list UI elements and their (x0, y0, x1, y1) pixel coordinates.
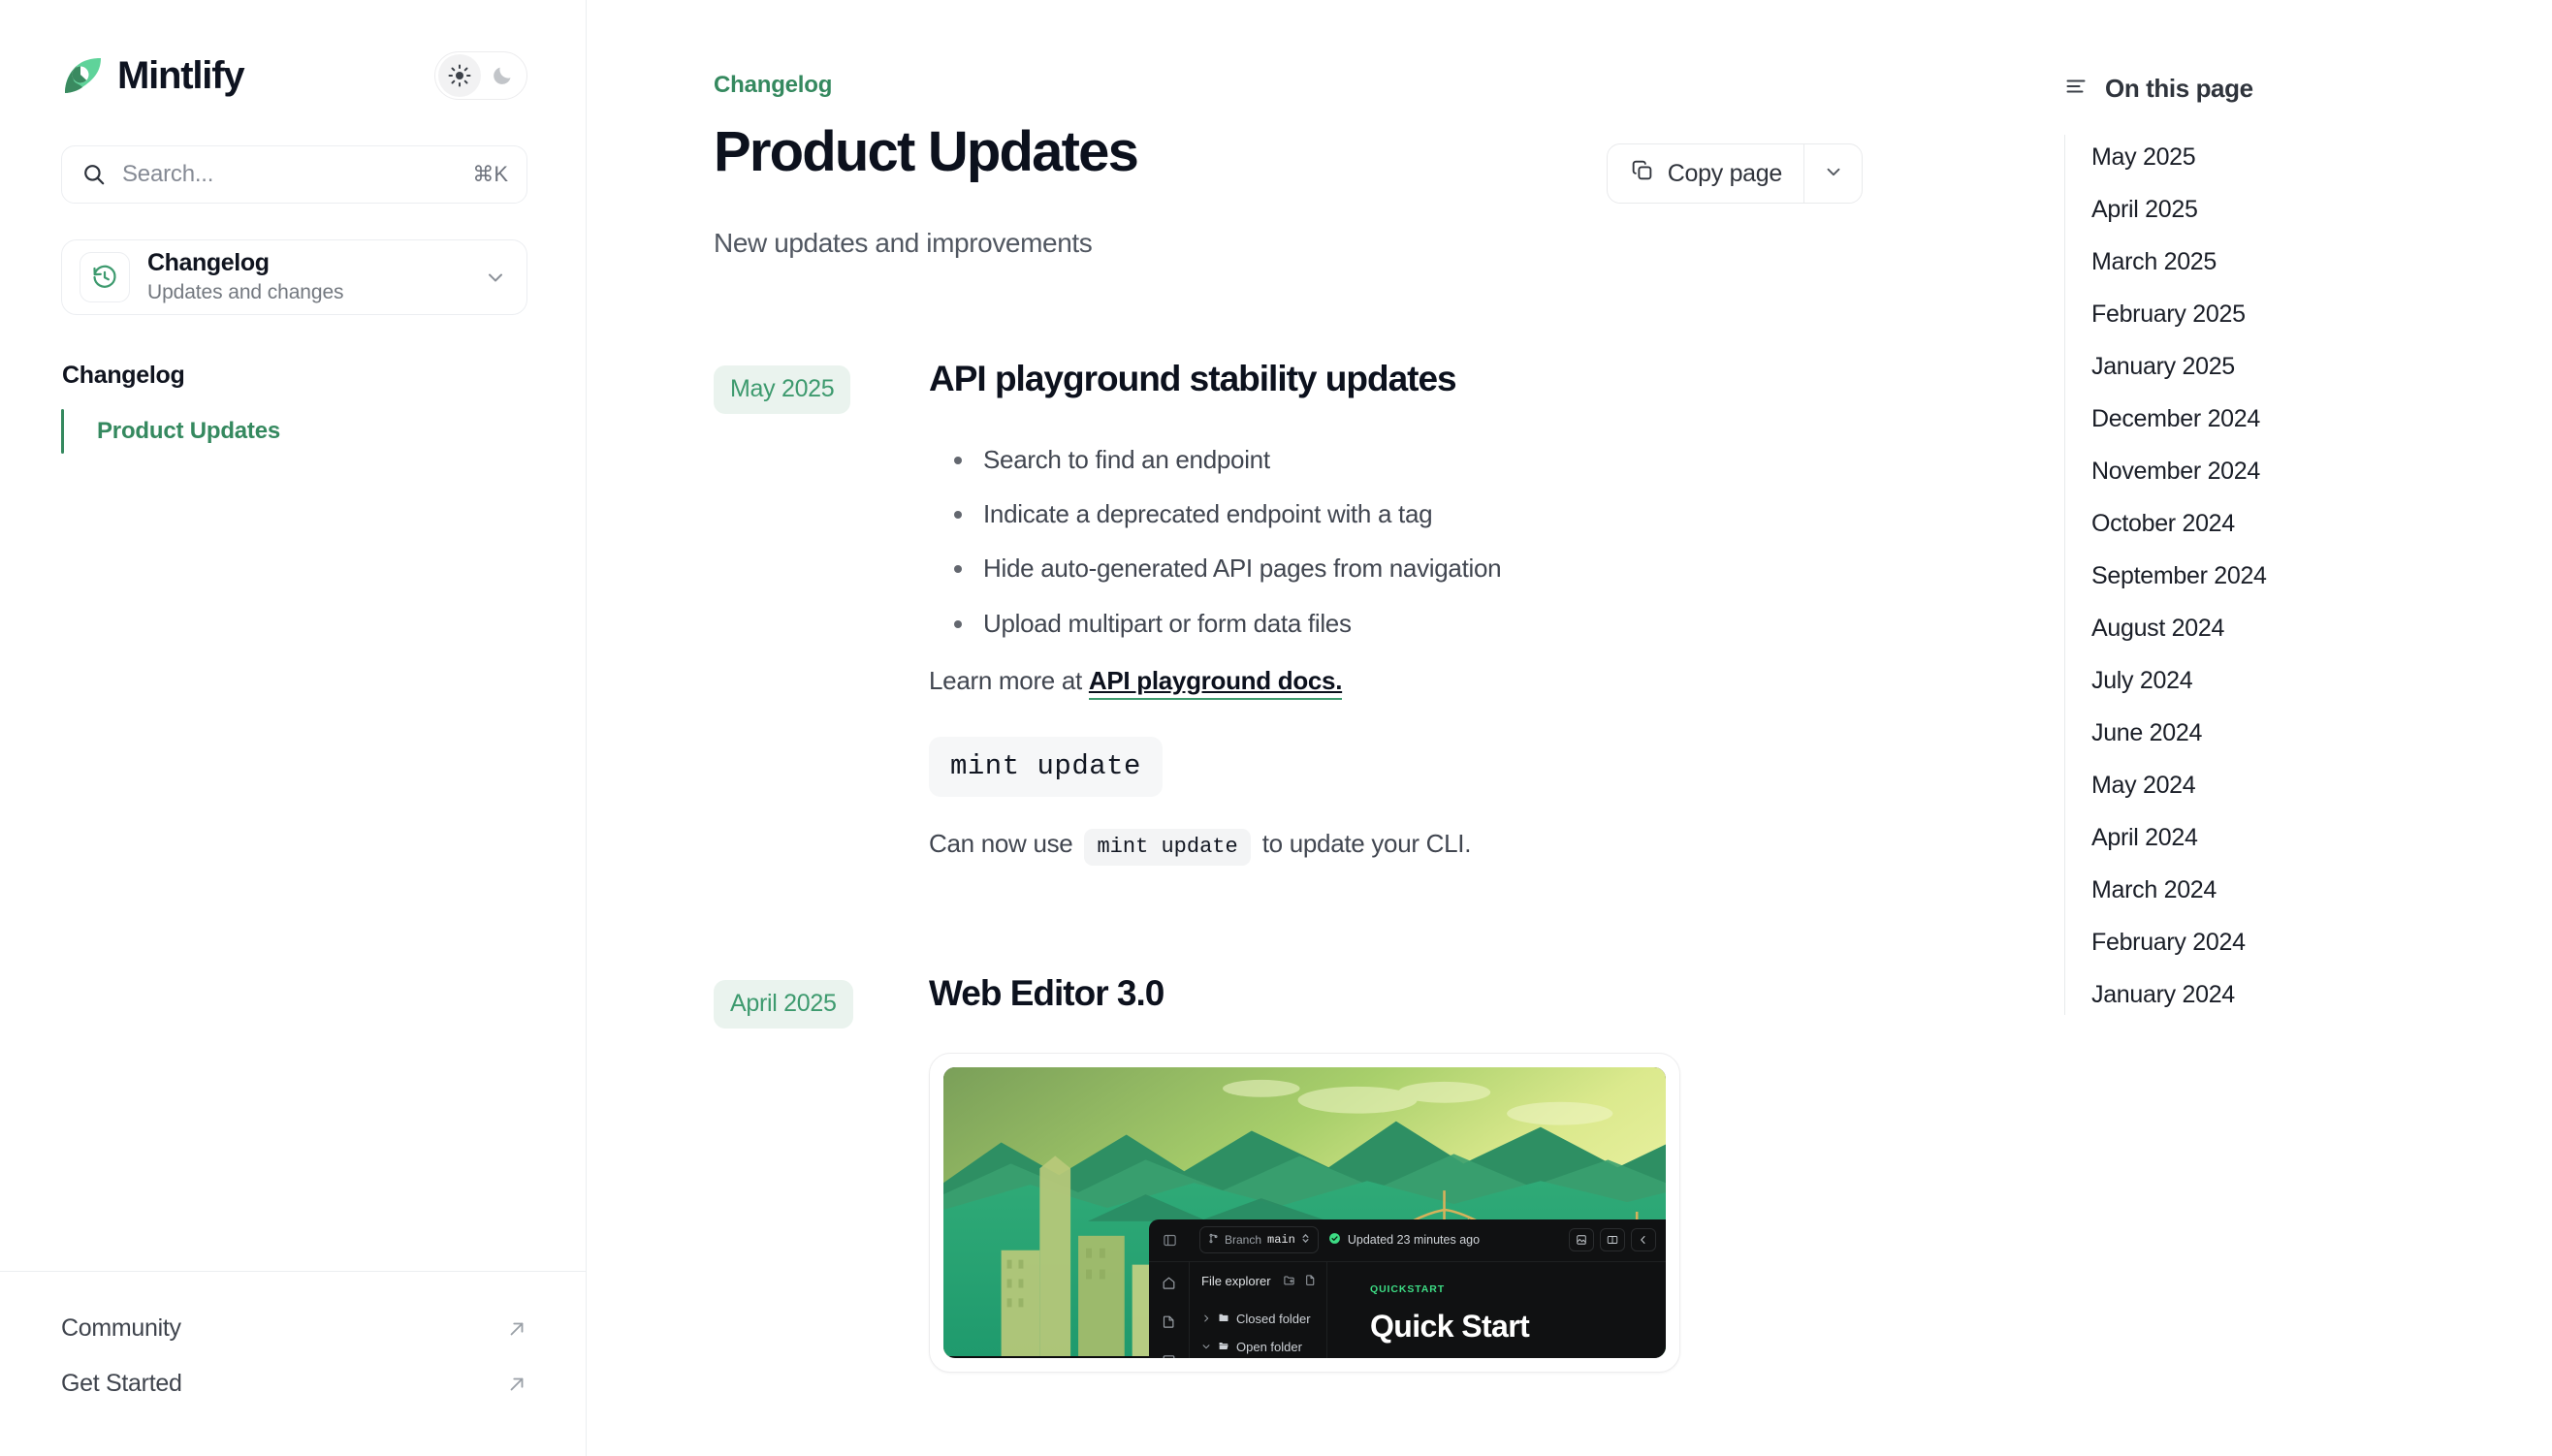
list-item: Indicate a deprecated endpoint with a ta… (929, 497, 1863, 530)
search-icon (81, 162, 107, 187)
copy-page-group: Copy page (1607, 143, 1863, 204)
toc-header: On this page (2009, 74, 2552, 104)
changelog-list: May 2025 API playground stability update… (714, 360, 1863, 1373)
list-item[interactable]: Open folder (1201, 1333, 1317, 1358)
toc-item[interactable]: November 2024 (2064, 445, 2552, 497)
web-editor-screenshot: Branch main (943, 1067, 1666, 1358)
toc-item[interactable]: September 2024 (2064, 550, 2552, 602)
sidebar-toggle-icon[interactable] (1149, 1219, 1190, 1262)
toc-item[interactable]: May 2024 (2064, 759, 2552, 811)
search-placeholder: Search... (122, 161, 472, 188)
editor-document-preview: QUICKSTART Quick Start (1327, 1262, 1666, 1358)
toc-item[interactable]: July 2024 (2064, 654, 2552, 707)
on-this-page-toc: On this page May 2025 April 2025 March 2… (2009, 0, 2552, 1456)
toc-item[interactable]: March 2024 (2064, 864, 2552, 916)
title-row: Product Updates Copy page (714, 122, 1863, 204)
list-item: Search to find an endpoint (929, 443, 1863, 476)
web-editor-screenshot-card: Branch main (929, 1053, 1680, 1373)
code-block: mint update (929, 737, 1163, 797)
date-badge[interactable]: April 2025 (714, 980, 853, 1029)
copy-page-label: Copy page (1668, 160, 1782, 188)
breadcrumb[interactable]: Changelog (714, 72, 1863, 99)
changelog-entry: May 2025 API playground stability update… (714, 360, 1863, 866)
toc-item[interactable]: May 2025 (2064, 131, 2552, 183)
entry-date-col: May 2025 (714, 360, 929, 414)
nav-section-title: Changelog (61, 362, 527, 390)
new-folder-icon[interactable] (1283, 1274, 1295, 1289)
entry-date-col: April 2025 (714, 974, 929, 1029)
file-explorer-panel: File explorer (1190, 1262, 1327, 1358)
entry-body: API playground stability updates Search … (929, 360, 1863, 866)
list-item[interactable]: Closed folder (1201, 1305, 1317, 1333)
after-code-prefix: Can now use (929, 829, 1072, 859)
check-circle-icon (1328, 1232, 1341, 1248)
new-file-icon[interactable] (1304, 1274, 1317, 1289)
toc-list: May 2025 April 2025 March 2025 February … (2009, 131, 2552, 1021)
doc-eyebrow: QUICKSTART (1370, 1283, 1666, 1295)
editor-icon-rail (1149, 1262, 1190, 1358)
nav-card-title: Changelog (147, 249, 484, 278)
branch-selector[interactable]: Branch main (1199, 1226, 1319, 1253)
preview-icon[interactable] (1162, 1353, 1176, 1358)
editor-topbar: Branch main (1149, 1219, 1666, 1262)
date-badge[interactable]: May 2025 (714, 365, 850, 414)
learn-more-prefix: Learn more at (929, 666, 1089, 695)
footer-link-community[interactable]: Community (61, 1301, 527, 1356)
chevron-updown-icon (1301, 1233, 1310, 1247)
external-link-icon (506, 1318, 527, 1340)
sidebar-item-product-updates[interactable]: Product Updates (61, 405, 527, 458)
history-clock-icon (80, 252, 130, 302)
copy-page-button[interactable]: Copy page (1608, 144, 1803, 203)
changelog-nav-card[interactable]: Changelog Updates and changes (61, 239, 527, 315)
learn-more-line: Learn more at API playground docs. (929, 666, 1863, 696)
web-editor-ui: Branch main (1149, 1219, 1666, 1358)
home-icon[interactable] (1162, 1276, 1176, 1295)
title-block: Product Updates (714, 122, 1137, 183)
branch-icon (1208, 1233, 1219, 1247)
toc-item[interactable]: August 2024 (2064, 602, 2552, 654)
search-shortcut: ⌘K (472, 162, 508, 187)
file-label: Closed folder (1236, 1312, 1311, 1326)
sidebar-footer: Community Get Started (0, 1271, 586, 1456)
toc-item[interactable]: April 2024 (2064, 811, 2552, 864)
moon-icon[interactable] (481, 54, 524, 97)
toc-item[interactable]: February 2025 (2064, 288, 2552, 340)
brand[interactable]: Mintlify (61, 54, 243, 97)
toc-item[interactable]: April 2025 (2064, 183, 2552, 236)
chevron-right-icon (1201, 1312, 1211, 1326)
layout-split-icon[interactable] (1600, 1228, 1625, 1251)
image-placeholder-icon[interactable] (1569, 1228, 1594, 1251)
list-item: Hide auto-generated API pages from navig… (929, 552, 1863, 585)
brand-row: Mintlify (61, 47, 527, 105)
inline-code: mint update (1084, 829, 1250, 866)
sidebar-item-label: Product Updates (97, 418, 280, 444)
entry-body: Web Editor 3.0 (929, 974, 1863, 1373)
after-code-suffix: to update your CLI. (1262, 829, 1471, 859)
api-playground-docs-link[interactable]: API playground docs. (1089, 666, 1342, 700)
external-link-icon (506, 1374, 527, 1395)
nav-card-subtitle: Updates and changes (147, 279, 484, 305)
content-column: Changelog Product Updates Copy page (714, 72, 1863, 1373)
toc-item[interactable]: January 2025 (2064, 340, 2552, 393)
list-item: Upload multipart or form data files (929, 607, 1863, 640)
file-explorer-header: File explorer (1201, 1274, 1317, 1289)
copy-icon (1630, 158, 1654, 189)
folder-open-icon (1218, 1340, 1229, 1354)
mintlify-logo-icon (61, 54, 104, 97)
footer-link-label: Get Started (61, 1370, 182, 1398)
list-icon (2064, 75, 2088, 103)
branch-label: Branch (1225, 1233, 1261, 1247)
entry-title: API playground stability updates (929, 360, 1863, 399)
toc-item[interactable]: March 2025 (2064, 236, 2552, 288)
search-input[interactable]: Search... ⌘K (61, 145, 527, 204)
footer-link-label: Community (61, 1314, 181, 1343)
chevron-left-icon[interactable] (1631, 1228, 1656, 1251)
copy-page-dropdown-button[interactable] (1803, 144, 1862, 203)
toc-item[interactable]: January 2024 (2064, 968, 2552, 1021)
sun-icon[interactable] (438, 54, 481, 97)
entry-title: Web Editor 3.0 (929, 974, 1863, 1014)
theme-toggle[interactable] (434, 51, 527, 100)
toc-item[interactable]: February 2024 (2064, 916, 2552, 968)
updated-status: Updated 23 minutes ago (1328, 1232, 1480, 1248)
nav-card-text: Changelog Updates and changes (147, 249, 484, 305)
sidebar-top: Mintlify (0, 0, 586, 458)
left-sidebar: Mintlify (0, 0, 587, 1456)
toc-item[interactable]: June 2024 (2064, 707, 2552, 759)
app-root: Mintlify (0, 0, 2552, 1456)
toc-heading: On this page (2105, 74, 2253, 104)
file-edit-icon[interactable] (1162, 1314, 1176, 1334)
page-title: Product Updates (714, 122, 1137, 183)
after-code-line: Can now usemint updateto update your CLI… (929, 829, 1863, 866)
editor-topbar-actions (1569, 1228, 1656, 1251)
toc-item[interactable]: December 2024 (2064, 393, 2552, 445)
sidebar-nav: Product Updates (61, 405, 527, 458)
file-explorer-label: File explorer (1201, 1274, 1271, 1288)
file-label: Open folder (1236, 1340, 1302, 1354)
file-explorer-actions (1283, 1274, 1317, 1289)
footer-link-get-started[interactable]: Get Started (61, 1356, 527, 1411)
branch-name: main (1267, 1233, 1295, 1247)
page-subtitle: New updates and improvements (714, 228, 1863, 259)
entry-bullet-list: Search to find an endpoint Indicate a de… (929, 443, 1863, 640)
changelog-entry: April 2025 Web Editor 3.0 (714, 974, 1863, 1373)
updated-status-label: Updated 23 minutes ago (1348, 1233, 1480, 1247)
brand-name: Mintlify (117, 56, 243, 95)
chevron-down-icon (1201, 1340, 1211, 1354)
doc-title: Quick Start (1370, 1309, 1666, 1345)
folder-closed-icon (1218, 1312, 1229, 1326)
toc-item[interactable]: October 2024 (2064, 497, 2552, 550)
chevron-down-icon[interactable] (484, 266, 509, 289)
chevron-down-icon (1823, 161, 1844, 187)
main-content: Changelog Product Updates Copy page (587, 0, 2009, 1456)
